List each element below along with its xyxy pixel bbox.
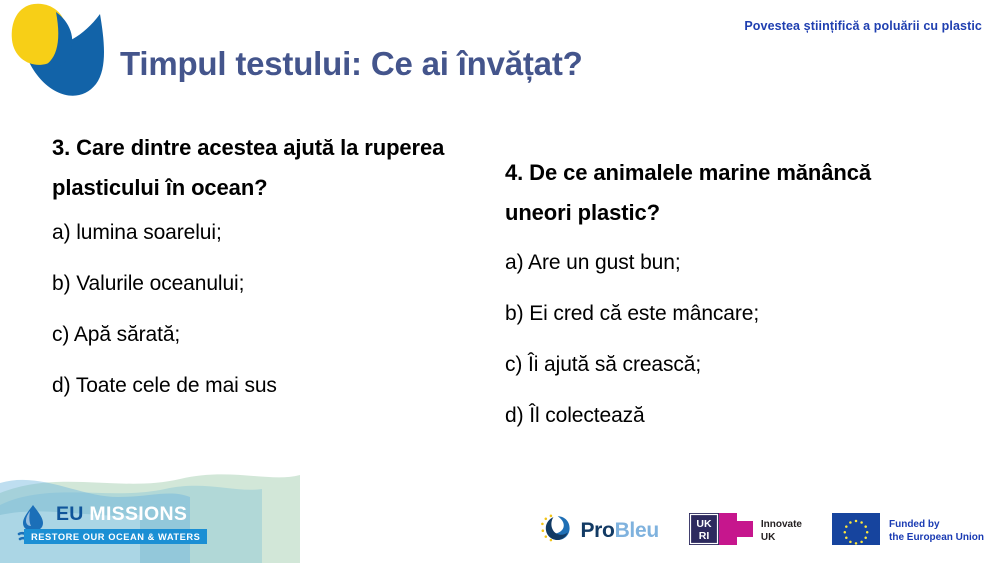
question-3-text: 3. Care dintre acestea ajută la ruperea … bbox=[52, 128, 452, 209]
ukri-mark-icon: UK RI bbox=[689, 513, 753, 550]
probleu-logo: ProBleu bbox=[539, 512, 658, 551]
eu-funding-line1: Funded by bbox=[889, 519, 940, 530]
question-4-answers: a) Are un gust bun; b) Ei cred că este m… bbox=[505, 252, 935, 426]
question-4-text: 4. De ce animalele marine mănâncă uneori… bbox=[505, 153, 935, 234]
answer-option-4c[interactable]: c) Îi ajută să crească; bbox=[505, 354, 935, 375]
eu-missions-logo: EU MISSIONS RESTORE OUR OCEAN & WATERS bbox=[10, 503, 200, 549]
eu-missions-wordmark: EU MISSIONS bbox=[56, 503, 187, 526]
answer-option-3a[interactable]: a) lumina soarelui; bbox=[52, 222, 452, 243]
header-kicker: Povestea științifică a poluării cu plast… bbox=[744, 19, 982, 33]
eu-missions-eu: EU bbox=[56, 503, 84, 525]
probleu-wordmark: ProBleu bbox=[580, 519, 658, 543]
eu-funding-line2: the European Union bbox=[889, 532, 984, 543]
answer-option-3c[interactable]: c) Apă sărată; bbox=[52, 324, 452, 345]
questions-container: 3. Care dintre acestea ajută la ruperea … bbox=[0, 128, 1000, 498]
innovate-uk-logo: UK RI Innovate UK bbox=[689, 513, 802, 550]
footer-logos: ProBleu UK RI Innovate UK bbox=[539, 511, 984, 551]
slide-canvas: Povestea științifică a poluării cu plast… bbox=[0, 0, 1000, 563]
probleu-globe-icon bbox=[539, 512, 573, 551]
probleu-pro: Pro bbox=[580, 519, 614, 542]
answer-option-3b[interactable]: b) Valurile oceanului; bbox=[52, 273, 452, 294]
answer-option-4d[interactable]: d) Îl colectează bbox=[505, 405, 935, 426]
eu-missions-tagline: RESTORE OUR OCEAN & WATERS bbox=[24, 529, 207, 544]
innovate-uk-text: Innovate UK bbox=[761, 518, 802, 544]
probleu-bleu: Bleu bbox=[615, 519, 659, 542]
question-3-answers: a) lumina soarelui; b) Valurile oceanulu… bbox=[52, 222, 452, 396]
answer-option-4b[interactable]: b) Ei cred că este mâncare; bbox=[505, 303, 935, 324]
question-column-3: 3. Care dintre acestea ajută la ruperea … bbox=[52, 128, 452, 426]
answer-option-3d[interactable]: d) Toate cele de mai sus bbox=[52, 375, 452, 396]
page-title: Timpul testului: Ce ai învățat? bbox=[120, 45, 583, 83]
svg-text:RI: RI bbox=[699, 530, 710, 542]
eu-flag-icon bbox=[832, 513, 880, 550]
innovate-uk-line2: UK bbox=[761, 532, 775, 543]
question-column-4: 4. De ce animalele marine mănâncă uneori… bbox=[505, 128, 935, 456]
brand-mark-logo bbox=[4, 0, 108, 106]
svg-text:UK: UK bbox=[696, 518, 712, 530]
eu-funding-text: Funded by the European Union bbox=[889, 518, 984, 544]
innovate-uk-line1: Innovate bbox=[761, 519, 802, 530]
answer-option-4a[interactable]: a) Are un gust bun; bbox=[505, 252, 935, 273]
eu-funding-logo: Funded by the European Union bbox=[832, 513, 984, 550]
eu-missions-missions: MISSIONS bbox=[89, 503, 187, 525]
